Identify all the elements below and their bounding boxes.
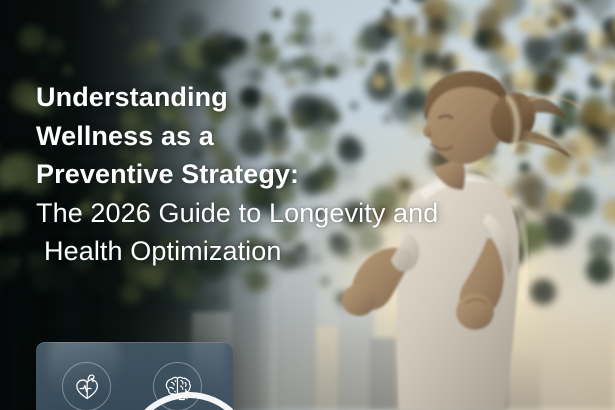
headline-line-4: The 2026 Guide to Longevity and [36,194,615,233]
feature-card [36,342,233,410]
headline-line-3: Preventive Strategy: [36,155,615,194]
poster-canvas: Understanding Wellness as a Preventive S… [0,0,615,410]
headline-line-2: Wellness as a [36,117,615,156]
headline-line-1: Understanding [36,78,615,117]
headline-block: Understanding Wellness as a Preventive S… [0,0,615,271]
heart-pulse-icon-badge[interactable] [62,362,111,410]
heart-pulse-icon [72,372,102,402]
headline-line-5: Health Optimization [36,232,615,271]
